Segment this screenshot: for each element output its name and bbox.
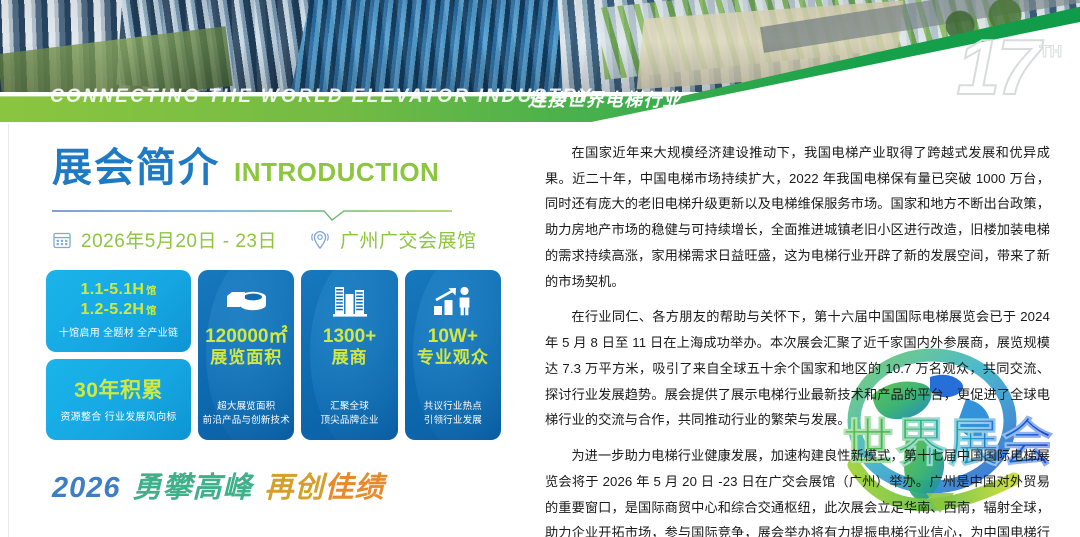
exhibition-area-icon — [223, 281, 269, 321]
slogan-part-3: 再创 — [265, 472, 325, 504]
header-banner: CONNECTING THE WORLD ELEVATOR INDUSTRY 连… — [0, 0, 1080, 122]
cards-left-stack: 1.1-5.1H馆 1.2-5.2H馆 十馆启用 全题材 全产业链 30年积累 … — [46, 270, 191, 440]
slogan-part-2: 勇攀高峰 — [133, 472, 253, 504]
body-paragraph: 在行业同仁、各方朋友的帮助与关怀下，第十六届中国国际电梯展览会已于 2024 年… — [545, 304, 1050, 433]
halls-line-2: 1.2-5.2H馆 — [81, 300, 157, 320]
highlight-cards: 1.1-5.1H馆 1.2-5.2H馆 十馆启用 全题材 全产业链 30年积累 … — [46, 270, 501, 440]
location-pin-icon — [309, 229, 331, 251]
card-visitors: 10W+ 专业观众 共议行业热点 引领行业发展 — [405, 270, 501, 440]
exhibitors-desc: 汇聚全球 顶尖品牌企业 — [320, 400, 378, 428]
desc-line-1: 汇聚全球 — [330, 401, 369, 412]
halls-line-1: 1.1-5.1H馆 — [81, 280, 157, 300]
card-halls: 1.1-5.1H馆 1.2-5.2H馆 十馆启用 全题材 全产业链 — [46, 270, 191, 352]
exhibitors-label: 展商 — [332, 348, 368, 368]
halls-line-1-value: 1.1-5.1H — [81, 281, 145, 298]
calendar-icon — [52, 230, 72, 250]
exhibition-area-number: 120000㎡ — [205, 327, 287, 348]
event-venue-item: 广州广交会展馆 — [309, 226, 477, 253]
bottom-slogan: 2026勇攀高峰再创佳绩 — [52, 464, 385, 506]
event-date: 2026年5月20日 - 23日 — [81, 226, 277, 253]
exhibition-area-label: 展览面积 — [210, 348, 282, 368]
exhibitors-number: 1300+ — [323, 327, 376, 348]
title-divider — [52, 208, 452, 222]
card-exhibition-area: 120000㎡ 展览面积 超大展览面积 前沿产品与创新技术 — [198, 270, 294, 440]
page-title-en: INTRODUCTION — [234, 159, 439, 185]
years-headline: 30年积累 — [74, 374, 163, 404]
body-paragraph: 在国家近年来大规模经济建设推动下，我国电梯产业取得了跨越式发展和优异成果。近二十… — [545, 140, 1050, 294]
halls-line-2-suffix: 馆 — [146, 306, 156, 317]
body-text-column: 在国家近年来大规模经济建设推动下，我国电梯产业取得了跨越式发展和优异成果。近二十… — [545, 140, 1050, 537]
halls-line-1-suffix: 馆 — [146, 286, 156, 297]
desc-line-2: 引领行业发展 — [424, 415, 482, 426]
growth-chart-person-icon — [431, 281, 475, 321]
halls-subtext: 十馆启用 全题材 全产业链 — [59, 327, 178, 341]
page-root: CONNECTING THE WORLD ELEVATOR INDUSTRY 连… — [0, 0, 1080, 537]
page-title-cn: 展会简介 — [52, 148, 220, 188]
slogan-year: 2026 — [52, 472, 121, 504]
event-date-item: 2026年5月20日 - 23日 — [52, 226, 277, 253]
event-meta-row: 2026年5月20日 - 23日 广州广交会展馆 — [52, 226, 477, 253]
visitors-number: 10W+ — [428, 327, 478, 348]
card-years: 30年积累 资源整合 行业发展风向标 — [46, 359, 191, 441]
card-exhibitors: 1300+ 展商 汇聚全球 顶尖品牌企业 — [301, 270, 397, 440]
tagline-english: CONNECTING THE WORLD ELEVATOR INDUSTRY — [50, 86, 593, 108]
desc-line-2: 顶尖品牌企业 — [320, 415, 378, 426]
desc-line-1: 共议行业热点 — [424, 401, 482, 412]
section-title: 展会简介 INTRODUCTION — [52, 148, 439, 188]
left-column: 展会简介 INTRODUCTION — [0, 124, 520, 537]
buildings-icon — [330, 281, 370, 321]
desc-line-1: 超大展览面积 — [217, 401, 275, 412]
visitors-label: 专业观众 — [417, 348, 489, 368]
halls-line-2-value: 1.2-5.2H — [81, 301, 145, 318]
desc-line-2: 前沿产品与创新技术 — [203, 415, 290, 426]
visitors-desc: 共议行业热点 引领行业发展 — [424, 400, 482, 428]
tagline-chinese: 连接世界电梯行业 — [528, 86, 682, 112]
body-paragraph: 为进一步助力电梯行业健康发展，加速构建良性新模式，第十七届中国国际电梯展览会将于… — [545, 443, 1050, 537]
slogan-part-4: 佳绩 — [325, 472, 385, 504]
exhibition-area-desc: 超大展览面积 前沿产品与创新技术 — [203, 400, 290, 428]
years-subtext: 资源整合 行业发展风向标 — [60, 411, 176, 425]
event-venue: 广州广交会展馆 — [340, 226, 477, 253]
